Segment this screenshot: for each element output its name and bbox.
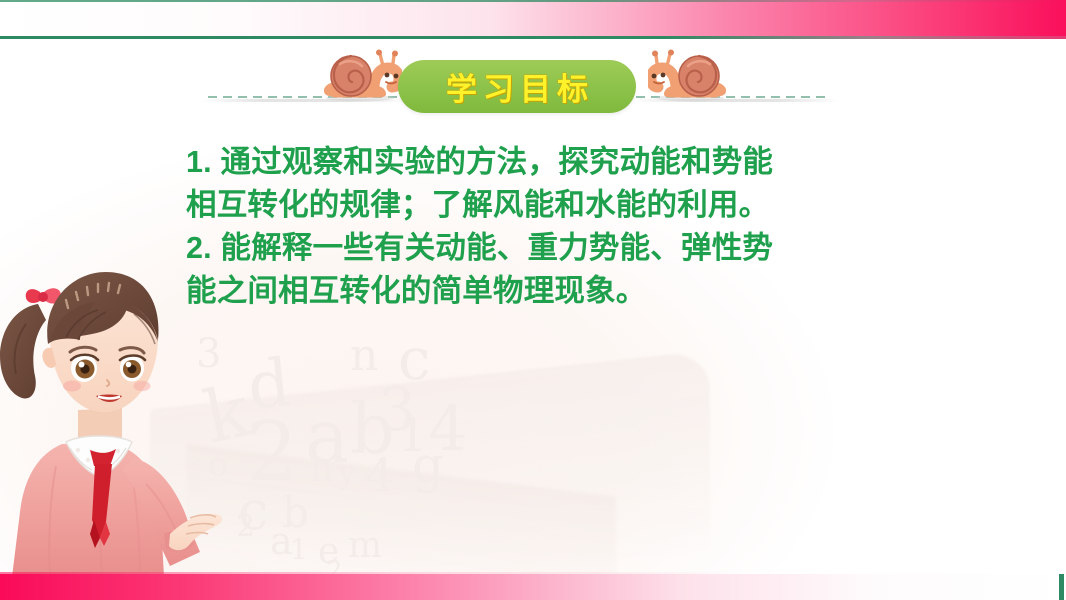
- watermark-glyph: n: [310, 452, 333, 488]
- objective-line-2: 相互转化的规律；了解风能和水能的利用。: [186, 184, 946, 227]
- objective-line-4: 能之间相互转化的简单物理现象。: [186, 270, 946, 313]
- bottom-gradient-bar: [0, 574, 1066, 600]
- watermark-glyph: 2: [236, 512, 255, 542]
- watermark-glyph: 1: [290, 536, 308, 564]
- watermark-glyph: 4: [365, 452, 394, 498]
- bottom-bar-green-accent: [1059, 574, 1064, 600]
- objective-line-3: 2. 能解释一些有关动能、重力势能、弹性势: [186, 227, 946, 270]
- top-bar-lower-rule: [0, 36, 1066, 39]
- watermark-glyph: y: [338, 456, 356, 488]
- snail-left-icon: [318, 46, 402, 107]
- watermark-glyph: n: [350, 334, 378, 378]
- title-badge-label: 学习目标: [398, 60, 636, 113]
- cartoon-schoolgirl-illustration: [0, 252, 224, 582]
- top-bar-upper-rule: [0, 0, 1066, 2]
- snail-right-icon: [648, 46, 732, 107]
- objectives-text-block: 1. 通过观察和实验的方法，探究动能和势能 相互转化的规律；了解风能和水能的利用…: [186, 141, 946, 313]
- top-gradient-bar: [0, 0, 1066, 36]
- objective-line-1: 1. 通过观察和实验的方法，探究动能和势能: [186, 141, 946, 184]
- slide-canvas: kd3nc32ab14gny4ocb2a1em2: [0, 0, 1066, 600]
- title-badge: 学习目标: [398, 60, 636, 113]
- watermark-glyph: g: [412, 440, 444, 490]
- watermark-glyph: m: [348, 528, 382, 564]
